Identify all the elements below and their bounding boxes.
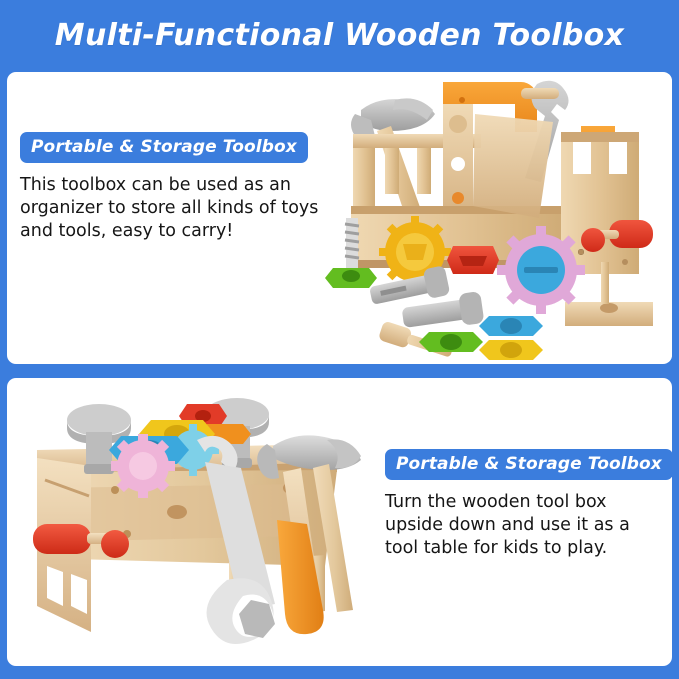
panel-text-tool-table: Portable & Storage Toolbox Turn the wood… [385, 449, 667, 560]
panel-body-text: Turn the wooden tool box upside down and… [385, 491, 667, 560]
page-title: Multi-Functional Wooden Toolbox [55, 18, 624, 53]
infographic-page: Multi-Functional Wooden Toolbox [0, 0, 679, 679]
product-photo-tool-table [15, 384, 387, 664]
header-bar: Multi-Functional Wooden Toolbox [0, 0, 679, 70]
panel-portable-storage: Portable & Storage Toolbox This toolbox … [7, 72, 672, 364]
panel-text-portable-storage: Portable & Storage Toolbox This toolbox … [20, 132, 320, 243]
product-photo-toolbox [325, 74, 672, 362]
panel-body-text: This toolbox can be used as an organizer… [20, 174, 320, 243]
panel-tool-table: Portable & Storage Toolbox Turn the wood… [7, 378, 672, 666]
panel-badge: Portable & Storage Toolbox [385, 449, 672, 480]
panel-badge: Portable & Storage Toolbox [20, 132, 308, 163]
panel-divider [0, 364, 679, 378]
